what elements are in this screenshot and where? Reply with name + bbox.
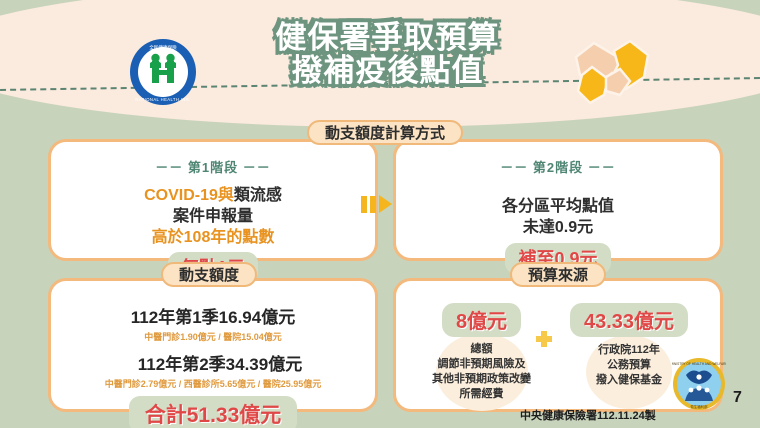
source-item-1-desc-line-2: 調節非預期風險及 [424, 357, 539, 372]
amount-row-2-main: 112年第2季34.39億元 [51, 350, 375, 375]
source-item-1-desc-line-4: 所需經費 [424, 387, 539, 402]
stage2-panel: －－ 第2階段 －－ 各分區平均點值 未達0.9元 補至0.9元 [393, 139, 723, 261]
amount-row-2-sub: 中醫門診2.79億元 / 西醫診所5.65億元 / 醫院25.95億元 [51, 377, 375, 390]
stage1-line3: 高於108年的點數 [51, 227, 375, 248]
amount-row-1: 112年第1季16.94億元 中醫門診1.90億元 / 醫院15.04億元 [51, 303, 375, 343]
arrow-bar-1 [361, 196, 367, 213]
stage1-line2: 案件申報量 [51, 206, 375, 227]
amount-row-1-sub: 中醫門診1.90億元 / 醫院15.04億元 [51, 330, 375, 343]
stage1-label: －－ 第1階段 －－ [51, 157, 375, 176]
mohw-logo: MINISTRY OF HEALTH AND WELFARE 衛生福利部 [672, 357, 726, 411]
amount-row-2: 112年第2季34.39億元 中醫門診2.79億元 / 西醫診所5.65億元 /… [51, 350, 375, 390]
handshake-icon [568, 33, 654, 107]
source-item-1: 8億元 總額 調節非預期風險及 其他非預期政策改變 所需經費 [424, 303, 539, 401]
source-item-2-desc-line-1: 行政院112年 [564, 343, 694, 358]
source-section-header: 預算來源 [510, 262, 606, 287]
page-title-line1: 健保署爭取預算 [245, 22, 530, 55]
footer-note: 中央健康保險署112.11.24製 [520, 407, 656, 423]
svg-text:衛生福利部: 衛生福利部 [691, 404, 709, 409]
amount-total-badge: 合計51.33億元 [129, 396, 298, 428]
stage1-panel: －－ 第1階段 －－ COVID-19與類流感 案件申報量 高於108年的點數 … [48, 139, 378, 261]
nhi-logo: 全民健康保險 NATIONAL HEALTH INS. [128, 37, 198, 107]
stage2-line1: 各分區平均點值 [396, 196, 720, 217]
page-title-line2: 撥補疫後點值 [245, 55, 530, 88]
source-item-1-amount: 8億元 [442, 303, 521, 337]
stage2-label: －－ 第2階段 －－ [396, 157, 720, 176]
page-number: 7 [733, 389, 742, 407]
stage1-line1-b: 類流感 [234, 187, 282, 204]
source-item-1-desc-line-3: 其他非預期政策改變 [424, 372, 539, 387]
page-title: 健保署爭取預算 撥補疫後點值 [245, 22, 530, 88]
source-item-1-desc-line-1: 總額 [424, 342, 539, 357]
amount-panel: 112年第1季16.94億元 中醫門診1.90億元 / 醫院15.04億元 11… [48, 278, 378, 412]
source-item-2-amount: 43.33億元 [570, 303, 688, 337]
source-item-1-desc: 總額 調節非預期風險及 其他非預期政策改變 所需經費 [424, 342, 539, 401]
forward-arrow-icon [361, 195, 392, 213]
amount-row-1-main: 112年第1季16.94億元 [51, 303, 375, 328]
amount-section-header: 動支額度 [161, 262, 257, 287]
stage1-line1-a: COVID-19與 [144, 187, 234, 204]
svg-text:MINISTRY OF HEALTH AND WELFARE: MINISTRY OF HEALTH AND WELFARE [672, 362, 726, 366]
stage2-line2: 未達0.9元 [396, 217, 720, 238]
arrow-triangle [379, 195, 392, 213]
infographic-root: 全民健康保險 NATIONAL HEALTH INS. 健保署爭取預算 撥補疫後… [0, 0, 760, 428]
svg-text:NATIONAL HEALTH INS.: NATIONAL HEALTH INS. [135, 97, 190, 102]
arrow-bar-2 [370, 196, 376, 213]
stage1-line1: COVID-19與類流感 [51, 185, 375, 206]
method-section-header: 動支額度計算方式 [307, 120, 463, 145]
svg-text:全民健康保險: 全民健康保險 [149, 44, 177, 51]
